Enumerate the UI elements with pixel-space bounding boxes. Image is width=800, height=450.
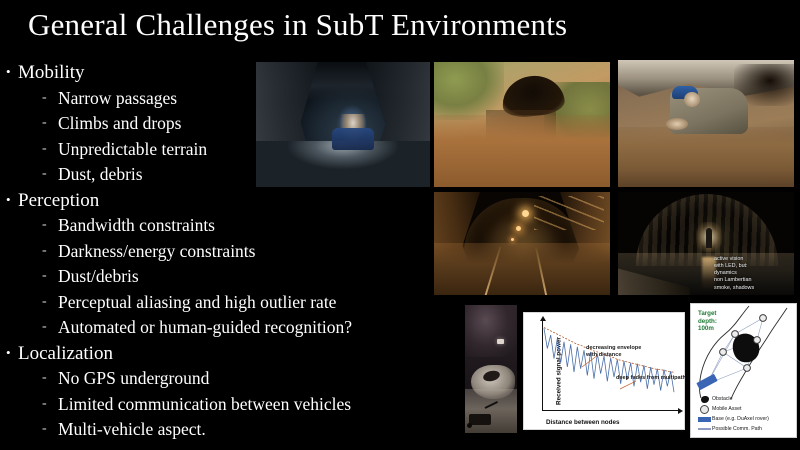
annotation-deep-fades: deep fades from multipath: [616, 375, 696, 382]
annotation-decreasing-envelope: decreasing envelopewith distance: [586, 345, 658, 359]
comm-path-icon: [697, 428, 712, 429]
legend-row-base: Base (e.g. DuAxel rover): [697, 414, 793, 424]
bullet-no-gps-underground: No GPS underground: [10, 366, 460, 392]
base-station-marker: [696, 374, 717, 390]
legend-row-obstacle: Obstacle: [697, 394, 793, 404]
legend-label-comm-path: Possible Comm. Path: [712, 426, 762, 432]
note-line-2: with LED, but:: [714, 263, 792, 270]
photo-brick-tunnel: active vision with LED, but: dynamics no…: [618, 192, 794, 295]
caver-face: [684, 92, 700, 107]
photo-caver-helmet: [618, 60, 794, 187]
network-topology: [691, 304, 796, 400]
bullet-perception: Perception: [10, 188, 460, 214]
legend-row-comm-path: Possible Comm. Path: [697, 424, 793, 434]
bullet-perceptual-aliasing: Perceptual aliasing and high outlier rat…: [10, 290, 460, 316]
page-title: General Challenges in SubT Environments: [28, 2, 728, 48]
tracked-robot: [469, 414, 491, 425]
photo-rock-opening: [434, 62, 610, 187]
caver-torso: [332, 128, 374, 150]
signal-fading-chart: Received signal power Distance between n…: [523, 312, 685, 430]
note-line-5: smoke, shadows: [714, 285, 792, 292]
obstacle-icon: [697, 396, 712, 403]
mine-lamp-near: [522, 210, 529, 217]
photo-crawl-tunnel: [256, 62, 430, 187]
note-line-4: non Lambertian: [714, 277, 792, 284]
robot-wheel: [467, 423, 472, 428]
slide-root: General Challenges in SubT Environments …: [0, 0, 800, 450]
diagram-legend: Obstacle Mobile Asset Base (e.g. DuAxel …: [697, 394, 793, 434]
bullet-multi-vehicle-aspect: Multi-vehicle aspect.: [10, 417, 460, 443]
legend-label-mobile-asset: Mobile Asset: [712, 406, 741, 412]
active-vision-note: active vision with LED, but: dynamics no…: [714, 256, 792, 292]
photo-mine-rails: [434, 192, 610, 295]
legend-row-mobile-asset: Mobile Asset: [697, 404, 793, 414]
bullet-limited-communication: Limited communication between vehicles: [10, 392, 460, 418]
mobile-asset-icon: [697, 405, 712, 414]
sediment-floor: [434, 115, 610, 187]
mine-lamp-far: [511, 238, 514, 241]
legend-label-obstacle: Obstacle: [712, 396, 732, 402]
cave-ground: [465, 389, 517, 433]
legend-label-base: Base (e.g. DuAxel rover): [712, 416, 769, 422]
bullet-darkness-energy-constraints: Darkness/energy constraints: [10, 239, 460, 265]
caver-hand: [666, 118, 688, 130]
mine-floor: [434, 243, 610, 295]
bullet-automated-recognition: Automated or human-guided recognition?: [10, 315, 460, 341]
distant-figure: [706, 228, 712, 248]
mine-lamp-mid: [516, 226, 521, 231]
photo-cave-robot: [465, 305, 517, 433]
passage-floor: [618, 127, 794, 187]
base-icon: [697, 417, 712, 422]
note-line-1: active vision: [714, 256, 792, 263]
support-beams: [534, 196, 604, 230]
bullet-bandwidth-constraints: Bandwidth constraints: [10, 213, 460, 239]
comm-network-diagram: Target depth: 100m: [690, 303, 797, 438]
light-spot: [497, 339, 504, 344]
cave-ceiling-rock: [465, 305, 517, 357]
fading-signal-trace: [544, 328, 674, 392]
bullet-dust-slash-debris: Dust/debris: [10, 264, 460, 290]
chart-plot-area: [524, 313, 684, 429]
bullet-localization: Localization: [10, 341, 460, 367]
